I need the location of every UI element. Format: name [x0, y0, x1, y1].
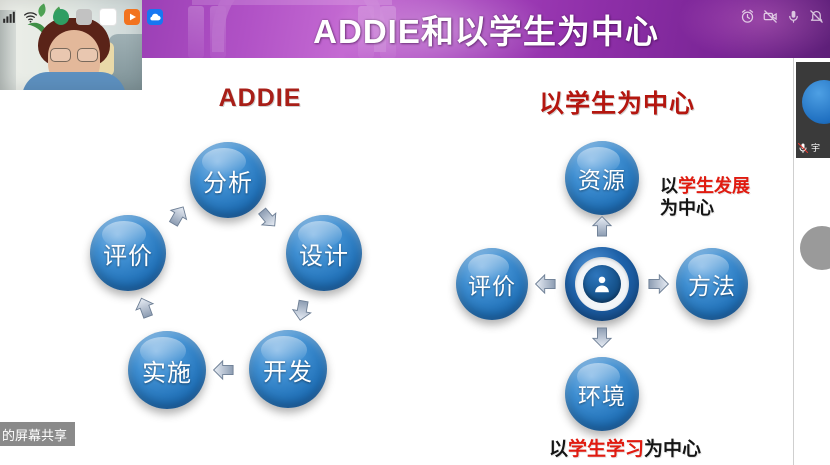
addie-node-analysis-label: 分析	[203, 163, 253, 198]
person-icon	[591, 273, 613, 295]
student-node-evaluation-label: 评价	[468, 267, 516, 301]
app-icon-white[interactable]	[99, 8, 117, 26]
addie-node-evaluation[interactable]: 评价	[90, 215, 166, 291]
phone-status-icons	[2, 8, 163, 26]
student-node-evaluation[interactable]: 评价	[456, 248, 528, 320]
annotation-line-1: 以学生发展	[660, 176, 800, 198]
student-node-environment[interactable]: 环境	[565, 357, 639, 431]
screen-share-label: 的屏幕共享	[0, 422, 75, 446]
alarm-clock-icon[interactable]	[740, 8, 755, 25]
right-diagram-heading: 以学生为中心	[512, 84, 722, 120]
student-node-resources-label: 资源	[578, 161, 626, 195]
presentation-title: ADDIE和以学生为中心	[142, 0, 830, 58]
annotation-line-2: 为中心	[660, 198, 800, 220]
app-icon-orange-play[interactable]	[124, 9, 140, 25]
annotation-student-learning: 以学生学习为中心	[500, 434, 750, 461]
addie-node-development[interactable]: 开发	[249, 330, 327, 408]
participant-name: 宇	[811, 141, 820, 154]
student-center-hub[interactable]	[565, 247, 639, 321]
participant-avatar-placeholder[interactable]	[800, 226, 830, 270]
arrow-evaluation-to-analysis	[160, 198, 196, 234]
annotation-student-development: 以学生发展 为中心	[660, 176, 800, 220]
microphone-icon[interactable]	[786, 8, 801, 25]
arrow-hub-to-resources	[589, 214, 615, 240]
arrow-implementation-to-evaluation	[128, 291, 161, 324]
meeting-overlay-icons[interactable]	[740, 8, 824, 25]
student-node-methods[interactable]: 方法	[676, 248, 748, 320]
addie-node-implementation-label: 实施	[142, 353, 192, 388]
camera-off-icon[interactable]	[763, 8, 778, 25]
annotation-prefix: 以	[660, 176, 678, 196]
addie-node-implementation[interactable]: 实施	[128, 331, 206, 409]
app-icon-blue-cloud[interactable]	[147, 9, 163, 25]
arrow-development-to-implementation	[211, 357, 237, 383]
annotation-bottom-suffix: 为中心	[644, 439, 701, 460]
annotation-highlight: 学生发展	[678, 176, 750, 196]
hub-core	[583, 265, 621, 303]
annotation-bottom-highlight: 学生学习	[568, 439, 644, 460]
student-node-environment-label: 环境	[578, 377, 626, 411]
hub-ring	[575, 257, 629, 311]
addie-node-evaluation-label: 评价	[103, 236, 153, 271]
participants-sidebar[interactable]: 宇	[793, 58, 830, 465]
bell-off-icon[interactable]	[809, 8, 824, 25]
arrow-hub-to-methods	[645, 271, 671, 297]
addie-node-design-label: 设计	[299, 236, 349, 271]
participant-mic-status: 宇	[797, 141, 820, 154]
app-icon-green[interactable]	[53, 9, 69, 25]
arrow-hub-to-evaluation	[533, 271, 559, 297]
wifi-icon	[23, 10, 38, 24]
participant-avatar	[802, 80, 830, 124]
arrow-design-to-development	[287, 295, 317, 325]
student-node-methods-label: 方法	[688, 267, 736, 301]
participant-video-tile[interactable]: 宇	[796, 62, 830, 158]
mic-muted-icon	[797, 142, 809, 154]
arrow-hub-to-environment	[589, 324, 615, 350]
addie-node-design[interactable]: 设计	[286, 215, 362, 291]
screen-capture-stage: ADDIE和以学生为中心	[0, 0, 830, 465]
addie-node-analysis[interactable]: 分析	[190, 142, 266, 218]
student-node-resources[interactable]: 资源	[565, 141, 639, 215]
signal-bars-icon	[2, 10, 16, 24]
addie-node-development-label: 开发	[263, 352, 313, 387]
annotation-bottom-prefix: 以	[549, 439, 568, 460]
app-icon-gray[interactable]	[76, 9, 92, 25]
left-diagram-heading: ADDIE	[170, 84, 350, 113]
